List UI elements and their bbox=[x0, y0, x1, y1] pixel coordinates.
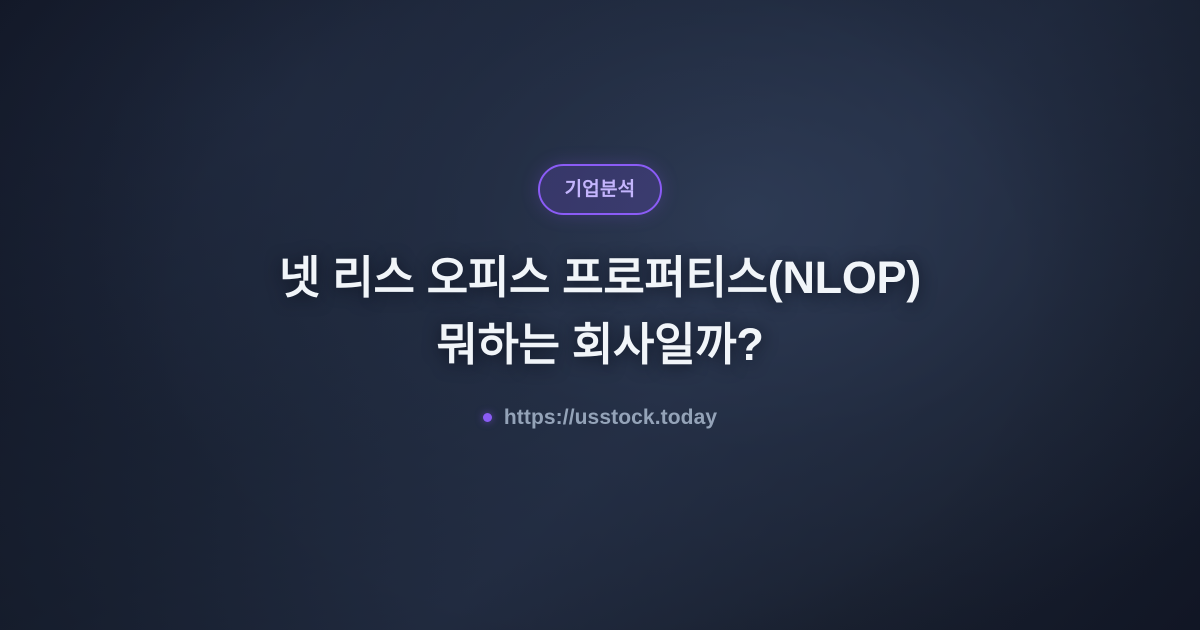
site-url-row: https://usstock.today bbox=[483, 407, 717, 428]
page-title: 넷 리스 오피스 프로퍼티스(NLOP) 뭐하는 회사일까? bbox=[279, 245, 921, 377]
site-url-label: https://usstock.today bbox=[504, 407, 717, 428]
category-badge-label: 기업분석 bbox=[565, 180, 636, 199]
page-title-line-2: 뭐하는 회사일까? bbox=[279, 312, 921, 378]
bullet-dot-icon bbox=[483, 413, 492, 422]
page-title-line-1: 넷 리스 오피스 프로퍼티스(NLOP) bbox=[279, 245, 921, 311]
og-share-card: 기업분석 넷 리스 오피스 프로퍼티스(NLOP) 뭐하는 회사일까? http… bbox=[0, 0, 1200, 630]
card-content: 기업분석 넷 리스 오피스 프로퍼티스(NLOP) 뭐하는 회사일까? http… bbox=[50, 164, 1150, 427]
category-badge: 기업분석 bbox=[538, 164, 663, 215]
